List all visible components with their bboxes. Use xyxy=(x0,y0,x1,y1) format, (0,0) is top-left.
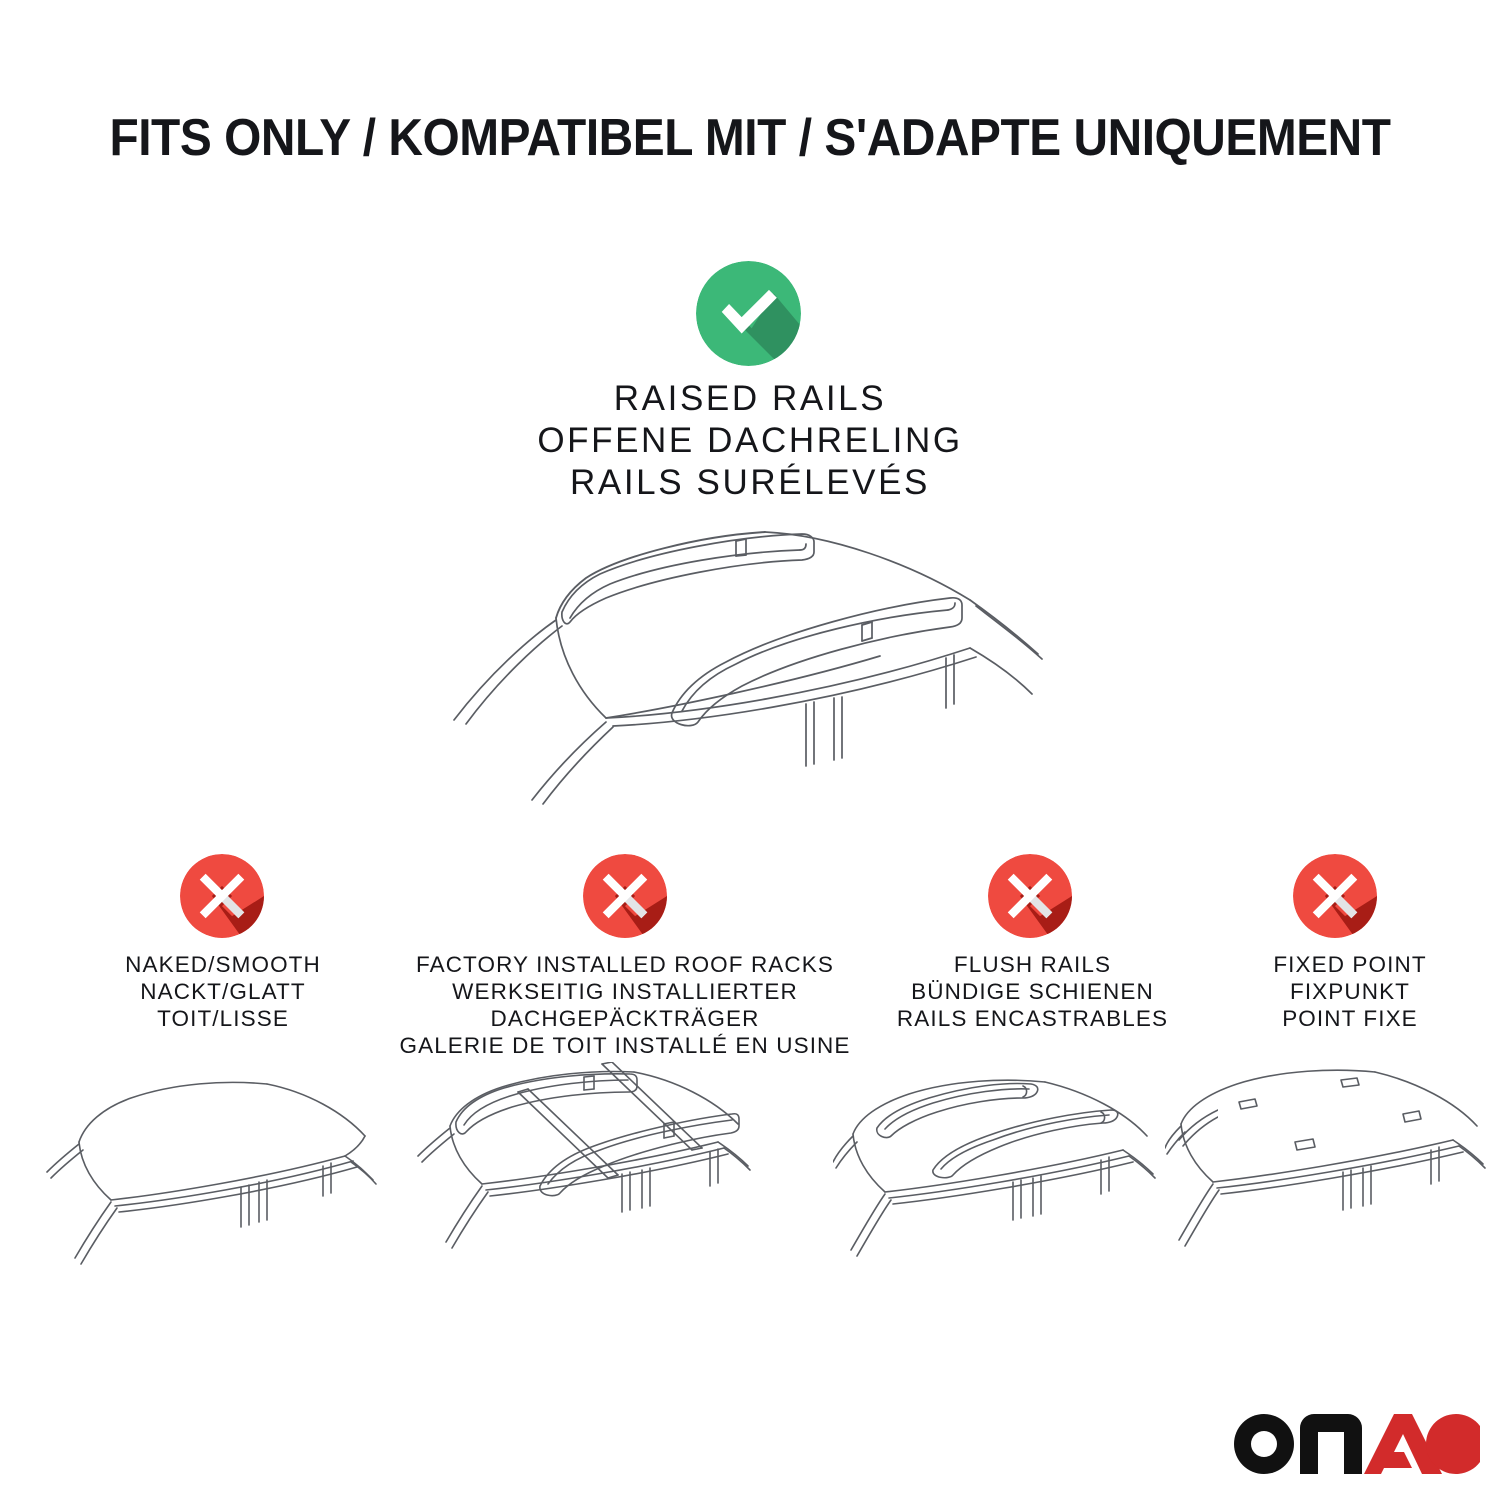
compatible-caption: RAISED RAILS OFFENE DACHRELING RAILS SUR… xyxy=(450,378,1050,504)
roof-raised-rails-diagram xyxy=(410,508,1100,828)
incompatible-4-line-2: FIXPUNKT xyxy=(1205,978,1495,1005)
omac-logo xyxy=(1232,1412,1480,1474)
incompatible-caption-4: FIXED POINT FIXPUNKT POINT FIXE xyxy=(1205,951,1495,1032)
roof-factory-racks-diagram xyxy=(412,1062,797,1292)
incompatible-caption-2: FACTORY INSTALLED ROOF RACKS WERKSEITIG … xyxy=(395,951,855,1059)
incompatible-1-line-1: NAKED/SMOOTH xyxy=(58,951,388,978)
roof-naked-smooth-diagram xyxy=(45,1062,415,1292)
incompatible-2-line-3: DACHGEPÄCKTRÄGER xyxy=(395,1005,855,1032)
incompatible-caption-3: FLUSH RAILS BÜNDIGE SCHIENEN RAILS ENCAS… xyxy=(860,951,1205,1032)
roof-flush-rails-diagram xyxy=(833,1062,1218,1292)
incompatible-4-line-1: FIXED POINT xyxy=(1205,951,1495,978)
page-title: FITS ONLY / KOMPATIBEL MIT / S'ADAPTE UN… xyxy=(60,107,1440,169)
roof-fixed-point-diagram xyxy=(1165,1062,1500,1292)
compatible-line-1: RAISED RAILS xyxy=(450,378,1050,420)
fitment-info-graphic: FITS ONLY / KOMPATIBEL MIT / S'ADAPTE UN… xyxy=(0,0,1500,1500)
incompatible-1-line-2: NACKT/GLATT xyxy=(58,978,388,1005)
check-circle-icon xyxy=(696,261,801,366)
incompatible-3-line-3: RAILS ENCASTRABLES xyxy=(860,1005,1205,1032)
x-circle-icon[interactable] xyxy=(583,854,667,938)
incompatible-2-line-4: GALERIE DE TOIT INSTALLÉ EN USINE xyxy=(395,1032,855,1059)
x-circle-icon[interactable] xyxy=(988,854,1072,938)
incompatible-2-line-2: WERKSEITIG INSTALLIERTER xyxy=(395,978,855,1005)
incompatible-3-line-2: BÜNDIGE SCHIENEN xyxy=(860,978,1205,1005)
incompatible-caption-1: NAKED/SMOOTH NACKT/GLATT TOIT/LISSE xyxy=(58,951,388,1032)
x-circle-icon[interactable] xyxy=(1293,854,1377,938)
compatible-line-2: OFFENE DACHRELING xyxy=(450,420,1050,462)
incompatible-3-line-1: FLUSH RAILS xyxy=(860,951,1205,978)
incompatible-2-line-1: FACTORY INSTALLED ROOF RACKS xyxy=(395,951,855,978)
compatible-line-3: RAILS SURÉLEVÉS xyxy=(450,462,1050,504)
incompatible-1-line-3: TOIT/LISSE xyxy=(58,1005,388,1032)
x-circle-icon[interactable] xyxy=(180,854,264,938)
incompatible-4-line-3: POINT FIXE xyxy=(1205,1005,1495,1032)
